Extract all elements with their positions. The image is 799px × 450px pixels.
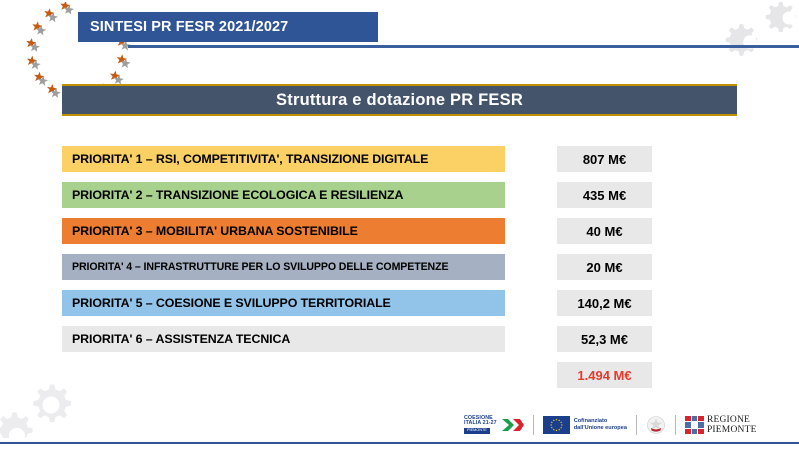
priority-row: PRIORITA' 4 – INFRASTRUTTURE PER LO SVIL… bbox=[62, 254, 737, 280]
coesione-line2: ITALIA 21-27 bbox=[464, 421, 497, 426]
priority-bar-5: PRIORITA' 5 – COESIONE E SVILUPPO TERRIT… bbox=[62, 290, 505, 316]
priority-amount-label-1: 807 M€ bbox=[583, 152, 626, 167]
total-row: 1.494 M€ bbox=[62, 362, 737, 388]
priority-label-5: PRIORITA' 5 – COESIONE E SVILUPPO TERRIT… bbox=[72, 296, 391, 310]
coesione-arrow-icon bbox=[500, 415, 524, 435]
eu-cofinanced-logo: Cofinanziato dall'Unione europea bbox=[534, 416, 636, 434]
priority-amount-label-4: 20 M€ bbox=[586, 260, 622, 275]
regione-piemonte-cross-icon bbox=[685, 416, 704, 434]
priority-amount-2: 435 M€ bbox=[557, 182, 652, 208]
slide-title-tab-label: SINTESI PR FESR 2021/2027 bbox=[90, 19, 288, 35]
priority-row: PRIORITA' 5 – COESIONE E SVILUPPO TERRIT… bbox=[62, 290, 737, 316]
priority-bar-6: PRIORITA' 6 – ASSISTENZA TECNICA bbox=[62, 326, 505, 352]
priority-amount-6: 52,3 M€ bbox=[557, 326, 652, 352]
footer-rule-blue bbox=[0, 442, 799, 444]
coesione-region-pill: PIEMONTE bbox=[464, 428, 490, 434]
priority-amount-5: 140,2 M€ bbox=[557, 290, 652, 316]
priority-amount-label-2: 435 M€ bbox=[583, 188, 626, 203]
priority-label-4: PRIORITA' 4 – INFRASTRUTTURE PER LO SVIL… bbox=[72, 261, 448, 273]
regione-line2: PIEMONTE bbox=[707, 425, 757, 435]
total-amount-label: 1.494 M€ bbox=[577, 368, 631, 383]
repubblica-italiana-emblem bbox=[637, 415, 675, 435]
priority-bar-4: PRIORITA' 4 – INFRASTRUTTURE PER LO SVIL… bbox=[62, 254, 505, 280]
priority-bar-3: PRIORITA' 3 – MOBILITA' URBANA SOSTENIBI… bbox=[62, 218, 505, 244]
slide-title-tab: SINTESI PR FESR 2021/2027 bbox=[78, 12, 378, 42]
eu-line2: dall'Unione europea bbox=[574, 425, 627, 432]
priority-row: PRIORITA' 6 – ASSISTENZA TECNICA52,3 M€ bbox=[62, 326, 737, 352]
eu-flag-icon bbox=[543, 416, 570, 434]
priority-amount-label-3: 40 M€ bbox=[586, 224, 622, 239]
total-amount: 1.494 M€ bbox=[557, 362, 652, 388]
priority-amount-label-5: 140,2 M€ bbox=[577, 296, 631, 311]
priority-label-3: PRIORITA' 3 – MOBILITA' URBANA SOSTENIBI… bbox=[72, 224, 358, 238]
priority-row: PRIORITA' 1 – RSI, COMPETITIVITA', TRANS… bbox=[62, 146, 737, 172]
priority-row: PRIORITA' 2 – TRANSIZIONE ECOLOGICA E RE… bbox=[62, 182, 737, 208]
footer-logo-strip: COESIONE ITALIA 21-27 PIEMONTE Cofinanzi… bbox=[455, 410, 766, 440]
priority-label-6: PRIORITA' 6 – ASSISTENZA TECNICA bbox=[72, 332, 290, 346]
priority-amount-label-6: 52,3 M€ bbox=[581, 332, 628, 347]
header-bar: Struttura e dotazione PR FESR bbox=[62, 86, 737, 114]
priority-amount-4: 20 M€ bbox=[557, 254, 652, 280]
priority-bar-1: PRIORITA' 1 – RSI, COMPETITIVITA', TRANS… bbox=[62, 146, 505, 172]
priority-amount-1: 807 M€ bbox=[557, 146, 652, 172]
priority-bar-2: PRIORITA' 2 – TRANSIZIONE ECOLOGICA E RE… bbox=[62, 182, 505, 208]
coesione-italia-logo: COESIONE ITALIA 21-27 PIEMONTE bbox=[455, 415, 533, 435]
priority-label-2: PRIORITA' 2 – TRANSIZIONE ECOLOGICA E RE… bbox=[72, 188, 403, 202]
italy-emblem-icon bbox=[646, 415, 666, 435]
header-accent-line-bottom bbox=[62, 114, 737, 116]
header-rule-blue bbox=[128, 45, 799, 48]
priority-row: PRIORITA' 3 – MOBILITA' URBANA SOSTENIBI… bbox=[62, 218, 737, 244]
priority-amount-3: 40 M€ bbox=[557, 218, 652, 244]
section-header: Struttura e dotazione PR FESR bbox=[62, 84, 737, 116]
regione-line1: REGIONE bbox=[707, 415, 757, 425]
gear-decoration-top-right bbox=[719, 0, 799, 62]
regione-piemonte-logo: REGIONE PIEMONTE bbox=[676, 415, 766, 436]
priority-label-1: PRIORITA' 1 – RSI, COMPETITIVITA', TRANS… bbox=[72, 152, 428, 166]
eu-line1: Cofinanziato bbox=[574, 418, 627, 425]
priority-list: PRIORITA' 1 – RSI, COMPETITIVITA', TRANS… bbox=[62, 146, 737, 398]
header-title: Struttura e dotazione PR FESR bbox=[276, 91, 523, 110]
